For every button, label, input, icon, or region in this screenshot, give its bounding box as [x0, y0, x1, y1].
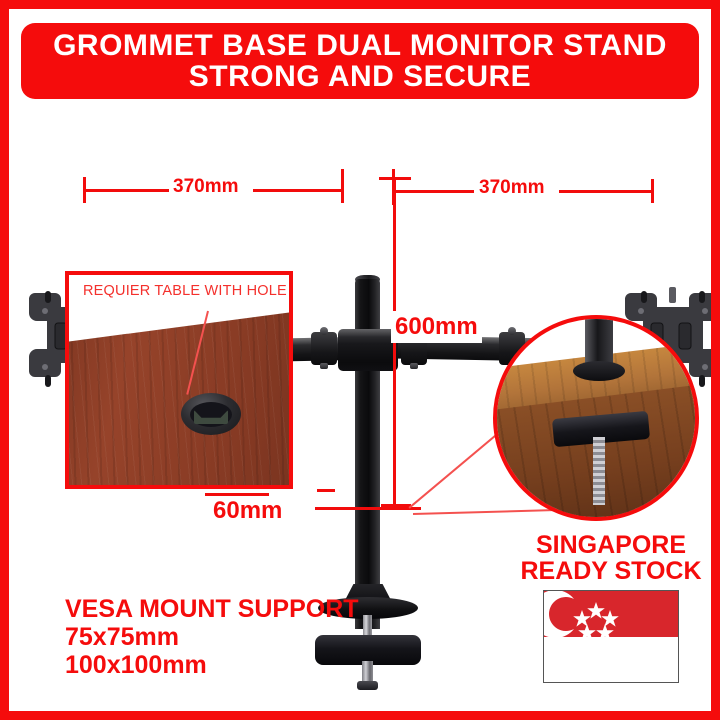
desk-surface — [65, 309, 293, 489]
arm-joint-left-inner — [311, 332, 337, 365]
inset-threaded-screw — [593, 437, 605, 505]
dim-tick-right-arm-end — [651, 179, 654, 203]
title-line-1: GROMMET BASE DUAL MONITOR STAND — [53, 30, 667, 61]
dim-label-right-arm: 370mm — [479, 177, 545, 199]
dim-line-base-c — [315, 507, 421, 510]
singapore-flag-icon — [543, 590, 679, 683]
vesa-spec-size-1: 75x75mm — [65, 623, 359, 651]
vesa-spec-size-2: 100x100mm — [65, 651, 359, 679]
badge-line-1: SINGAPORE — [517, 533, 705, 559]
dim-tick-left-arm-end — [341, 169, 344, 203]
dim-tick-pole-top — [379, 177, 411, 180]
vesa-spec-title: VESA MOUNT SUPPORT — [65, 595, 359, 623]
arm-hub-highlight — [338, 329, 398, 337]
title-banner: GROMMET BASE DUAL MONITOR STAND STRONG A… — [21, 23, 699, 99]
desk-grommet-hole-icon — [181, 393, 241, 435]
badge-line-2: READY STOCK — [517, 559, 705, 585]
dim-label-pole-height: 600mm — [391, 311, 482, 343]
dim-line-base-a — [205, 493, 269, 496]
inset-pole-flange — [573, 361, 625, 381]
dim-line-right-arm-b — [559, 190, 653, 193]
inset-table-with-hole: REQUIER TABLE WITH HOLE — [65, 271, 293, 489]
vesa-spec-block: VESA MOUNT SUPPORT 75x75mm 100x100mm — [65, 595, 359, 679]
dim-line-left-arm-b — [253, 189, 343, 192]
title-line-2: STRONG AND SECURE — [189, 61, 531, 92]
dim-line-left-arm-a — [83, 189, 169, 192]
dim-label-base-width: 60mm — [213, 497, 282, 525]
dim-line-base-b — [317, 489, 335, 492]
dim-line-right-arm-a — [392, 190, 474, 193]
singapore-ready-stock-badge: SINGAPORE READY STOCK — [517, 533, 705, 673]
inset-under-desk-mount — [493, 315, 699, 521]
dim-label-left-arm: 370mm — [173, 176, 239, 198]
inset-table-label: REQUIER TABLE WITH HOLE — [83, 283, 287, 299]
product-poster: GROMMET BASE DUAL MONITOR STAND STRONG A… — [0, 0, 720, 720]
base-bolt-head — [357, 681, 378, 690]
